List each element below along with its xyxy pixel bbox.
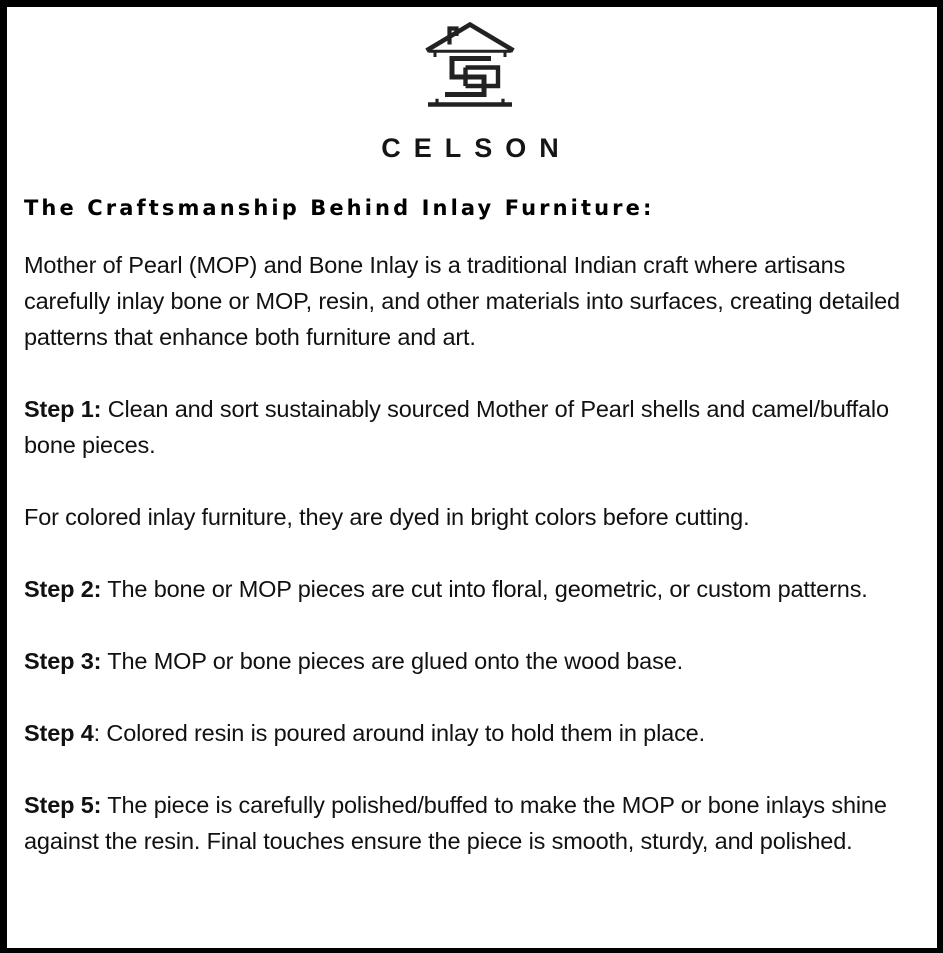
intro-paragraph: Mother of Pearl (MOP) and Bone Inlay is … — [24, 247, 923, 355]
step-2-label: Step 2: — [24, 576, 101, 602]
step-5-text: The piece is carefully polished/buffed t… — [24, 792, 887, 854]
step-5-paragraph: Step 5: The piece is carefully polished/… — [24, 787, 923, 859]
step-4-text: : Colored resin is poured around inlay t… — [94, 720, 705, 746]
house-monogram-logo-icon — [418, 18, 522, 122]
step-4-paragraph: Step 4: Colored resin is poured around i… — [24, 715, 923, 751]
step-1-label: Step 1: — [24, 396, 101, 422]
step-5-label: Step 5: — [24, 792, 101, 818]
colored-inlay-note: For colored inlay furniture, they are dy… — [24, 499, 923, 535]
step-2-text: The bone or MOP pieces are cut into flor… — [101, 576, 867, 602]
body-copy: Mother of Pearl (MOP) and Bone Inlay is … — [17, 247, 923, 859]
step-1-paragraph: Step 1: Clean and sort sustainably sourc… — [24, 391, 923, 463]
poster-inner: CELSON The Craftsmanship Behind Inlay Fu… — [7, 7, 937, 948]
step-3-label: Step 3: — [24, 648, 101, 674]
poster-card: CELSON The Craftsmanship Behind Inlay Fu… — [0, 0, 943, 953]
colored-inlay-note-text: For colored inlay furniture, they are dy… — [24, 504, 749, 530]
page-title: The Craftsmanship Behind Inlay Furniture… — [24, 196, 923, 221]
step-4-label: Step 4 — [24, 720, 94, 746]
intro-text: Mother of Pearl (MOP) and Bone Inlay is … — [24, 252, 900, 350]
step-2-paragraph: Step 2: The bone or MOP pieces are cut i… — [24, 571, 923, 607]
brand-block: CELSON — [17, 14, 923, 162]
brand-name: CELSON — [17, 135, 923, 162]
step-3-paragraph: Step 3: The MOP or bone pieces are glued… — [24, 643, 923, 679]
step-3-text: The MOP or bone pieces are glued onto th… — [101, 648, 683, 674]
step-1-text: Clean and sort sustainably sourced Mothe… — [24, 396, 889, 458]
